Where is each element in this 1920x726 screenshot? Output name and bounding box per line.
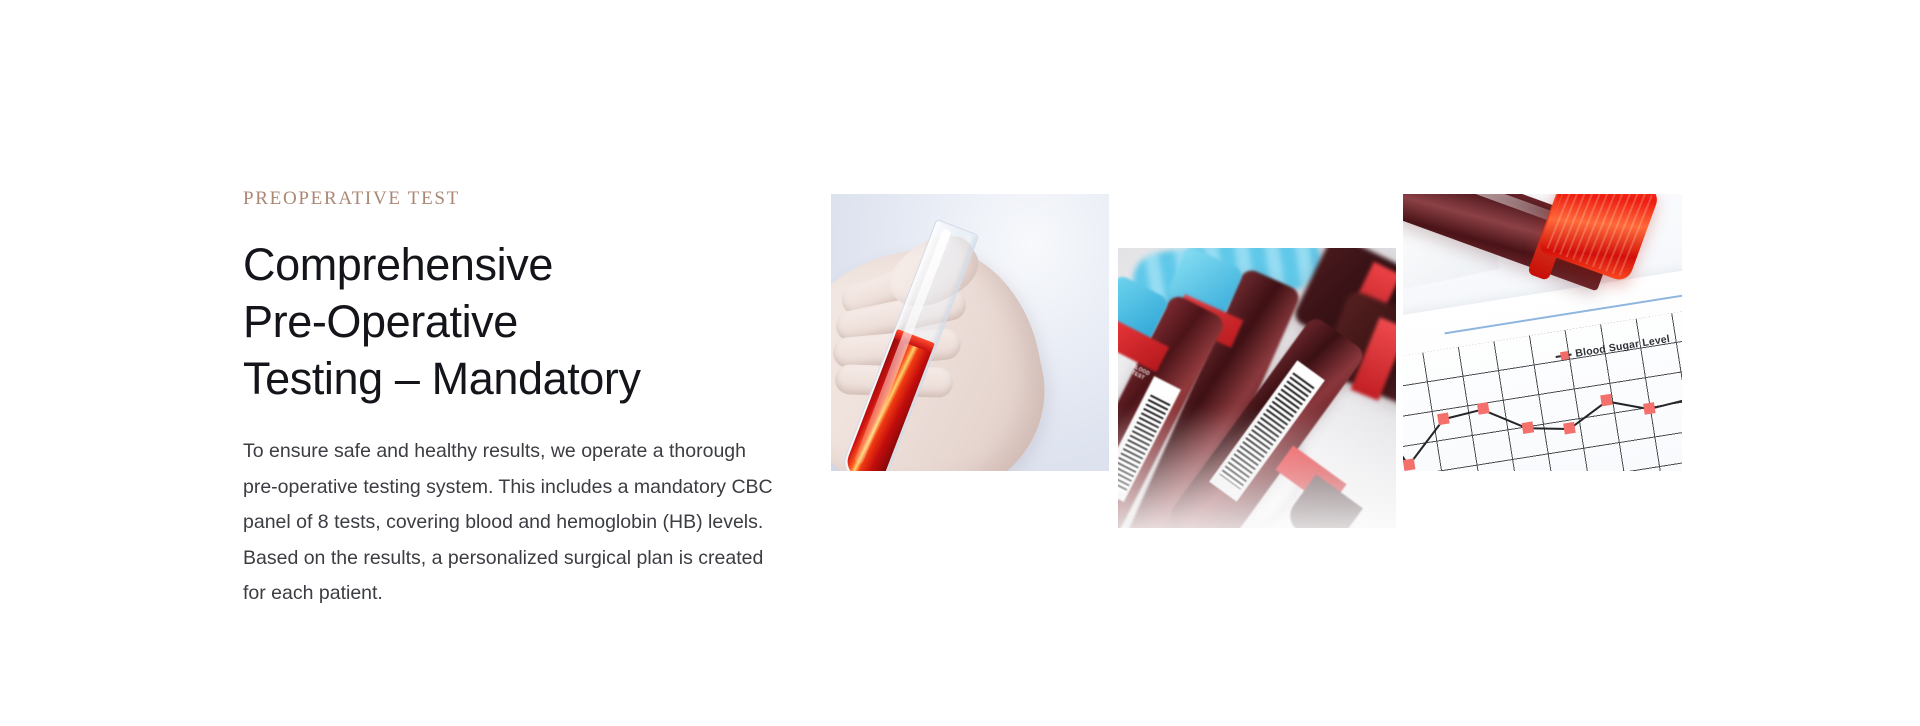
chart-line-segment: [1408, 419, 1444, 466]
preoperative-test-section: PREOPERATIVE TEST Comprehensive Pre-Oper…: [0, 0, 1920, 726]
chart-data-marker: [1600, 394, 1613, 407]
chart-data-marker: [1643, 402, 1656, 415]
chart-data-marker: [1477, 402, 1490, 415]
gallery-image-blood-collection-vials: BLOOD TEST: [1118, 248, 1396, 528]
chart-data-marker: [1437, 412, 1450, 425]
legend-marker-icon: [1556, 354, 1572, 358]
depth-of-field-blur: [1118, 408, 1396, 528]
chart-data-marker: [1403, 458, 1415, 471]
chart-data-marker: [1521, 421, 1534, 434]
gallery-image-gloved-hand-blood-test-tube: [831, 194, 1109, 471]
chart-line-segment: [1403, 386, 1409, 466]
gallery-image-blood-tube-on-chart: Blood Sugar Level: [1403, 194, 1682, 471]
image-gallery: BLOOD TEST Blood Sugar Level: [0, 0, 1920, 726]
chart-data-marker: [1563, 422, 1576, 435]
